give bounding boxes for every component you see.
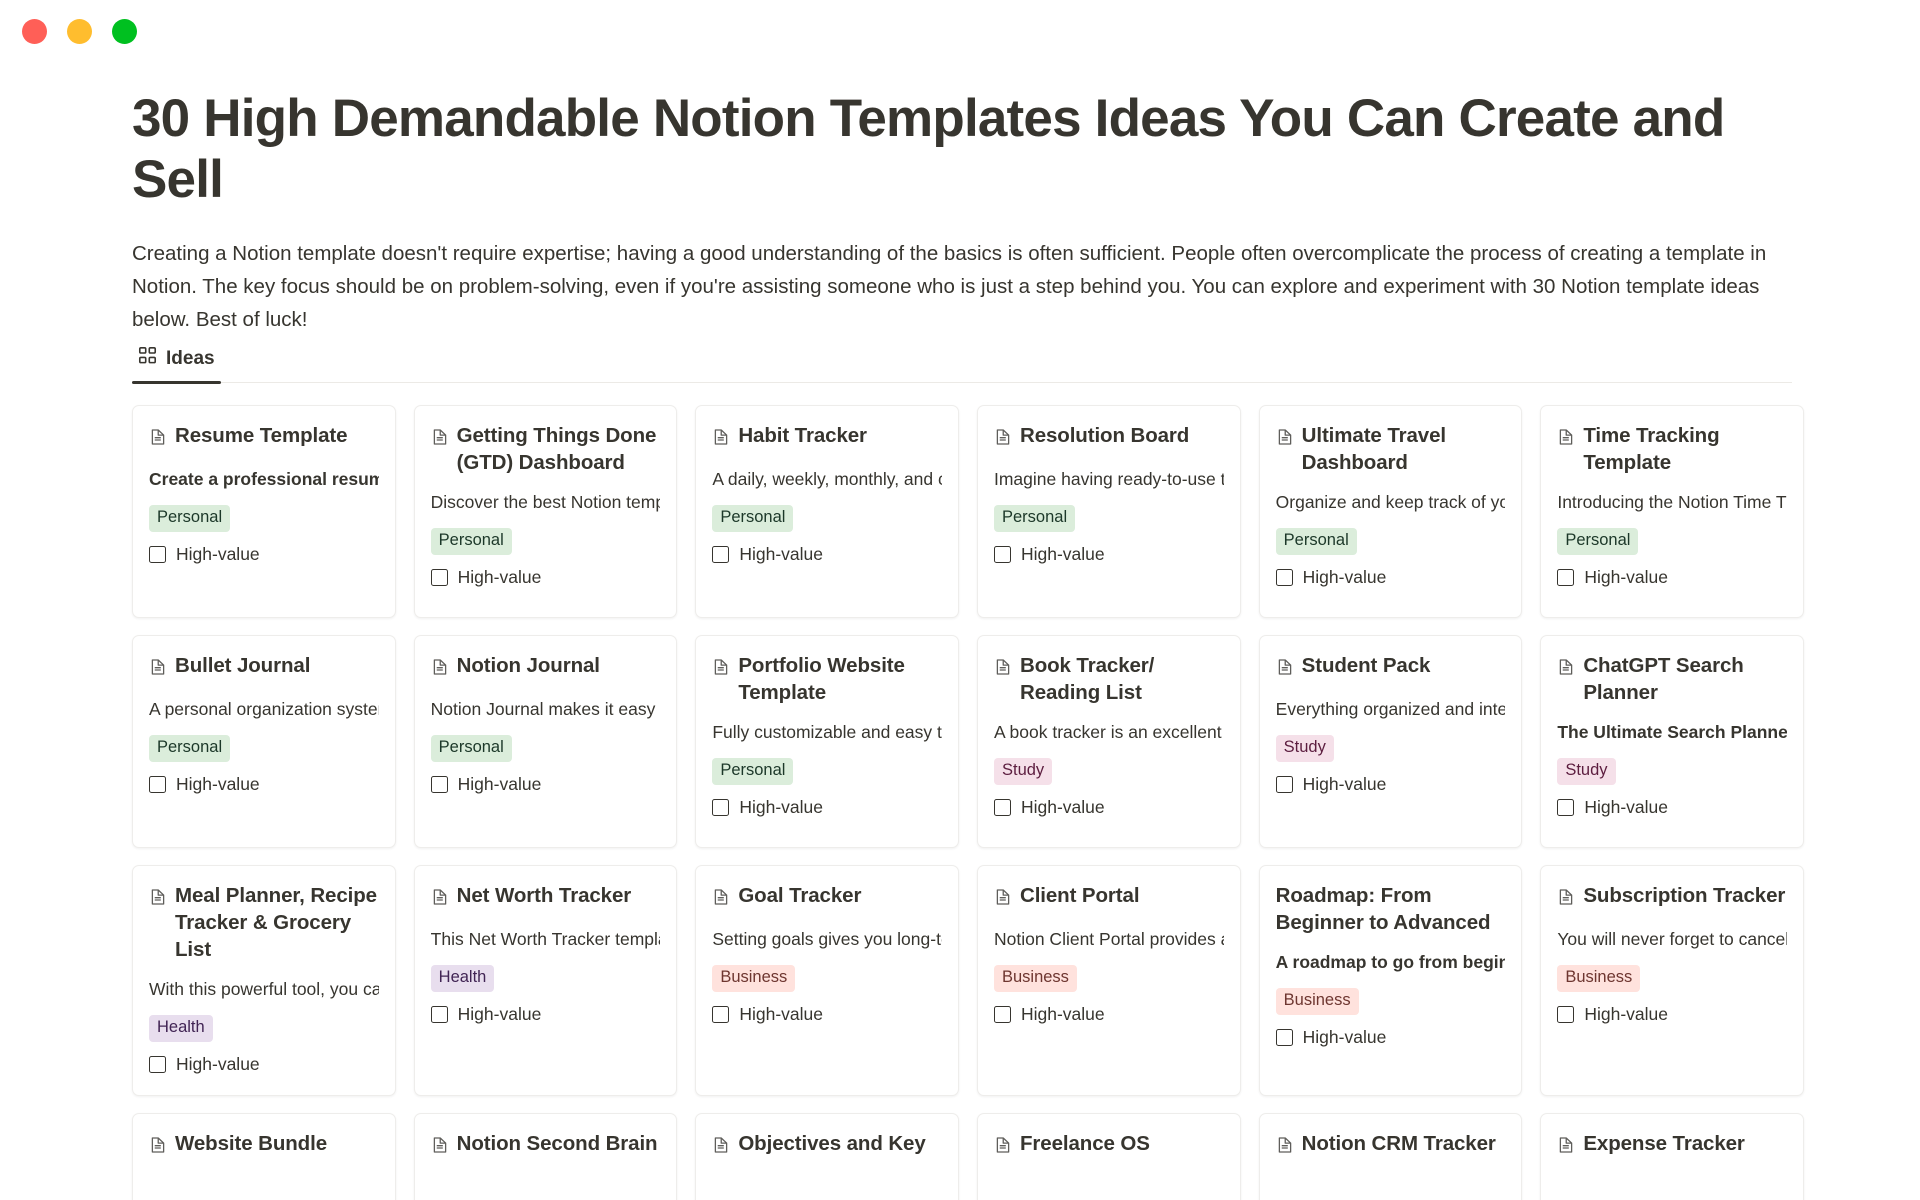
card-title-row: Website Bundle [149,1130,379,1161]
card-description: A daily, weekly, monthly, and cale [712,468,942,492]
checkbox-label: High-value [458,1004,542,1025]
card-tag-row: Personal [994,492,1224,532]
card-title: Resume Template [175,422,347,449]
checkbox-icon[interactable] [149,1056,166,1073]
idea-card[interactable]: Notion Second Brain [414,1113,678,1200]
tab-ideas[interactable]: Ideas [132,346,221,382]
card-title-row: Habit Tracker [712,422,942,453]
card-description: A personal organization system t [149,698,379,722]
idea-card[interactable]: Resolution BoardImagine having ready-to-… [977,405,1241,618]
checkbox-icon[interactable] [431,1006,448,1023]
checkbox-icon[interactable] [149,546,166,563]
card-description: Organize and keep track of your [1276,491,1506,515]
card-title: Portfolio Website Template [738,652,942,706]
card-title-row: Book Tracker/ Reading List [994,652,1224,706]
document-icon [431,426,449,453]
high-value-checkbox-row[interactable]: High-value [994,544,1224,565]
idea-card[interactable]: Notion JournalNotion Journal makes it ea… [414,635,678,848]
document-icon [712,886,730,913]
category-tag[interactable]: Personal [712,505,793,532]
card-tag-row: Health [431,952,661,992]
card-title: Goal Tracker [738,882,861,909]
checkbox-label: High-value [176,774,260,795]
document-icon [994,426,1012,453]
checkbox-label: High-value [176,1054,260,1075]
card-tag-row: Personal [712,745,942,785]
document-icon [994,1134,1012,1161]
card-title-row: Resume Template [149,422,379,453]
category-tag[interactable]: Personal [431,735,512,762]
high-value-checkbox-row[interactable]: High-value [431,774,661,795]
card-title: ChatGPT Search Planner [1583,652,1787,706]
checkbox-label: High-value [1021,544,1105,565]
gallery-view-icon [138,346,157,371]
card-title-row: Portfolio Website Template [712,652,942,706]
page-content: 30 High Demandable Notion Templates Idea… [0,62,1920,1200]
checkbox-label: High-value [176,544,260,565]
document-icon [1557,1134,1575,1161]
checkbox-label: High-value [739,544,823,565]
idea-card[interactable]: Habit TrackerA daily, weekly, monthly, a… [695,405,959,618]
category-tag[interactable]: Business [1557,965,1640,992]
high-value-checkbox-row[interactable]: High-value [149,544,379,565]
card-title-row: Net Worth Tracker [431,882,661,913]
checkbox-label: High-value [739,1004,823,1025]
window-titlebar [0,0,1920,62]
document-icon [149,1134,167,1161]
document-icon [1557,656,1575,683]
checkbox-icon[interactable] [1557,569,1574,586]
card-description: Notion Client Portal provides an [994,928,1224,952]
category-tag[interactable]: Personal [994,505,1075,532]
card-title: Meal Planner, Recipe Tracker & Grocery L… [175,882,379,963]
document-icon [431,656,449,683]
card-title: Habit Tracker [738,422,867,449]
document-icon [1276,656,1294,683]
card-tag-row: Health [149,1002,379,1042]
checkbox-label: High-value [1584,567,1668,588]
card-tag-row: Business [712,952,942,992]
document-icon [149,426,167,453]
checkbox-icon[interactable] [1276,569,1293,586]
checkbox-icon[interactable] [994,546,1011,563]
page-title: 30 High Demandable Notion Templates Idea… [132,88,1782,211]
card-title: Notion CRM Tracker [1302,1130,1496,1157]
idea-card[interactable]: Ultimate Travel DashboardOrganize and ke… [1259,405,1523,618]
card-title-row: Roadmap: From Beginner to Advanced [1276,882,1506,936]
card-tag-row: Business [1557,952,1787,992]
high-value-checkbox-row[interactable]: High-value [1276,774,1506,795]
checkbox-icon[interactable] [1276,1029,1293,1046]
document-icon [1276,1134,1294,1161]
idea-card[interactable]: Objectives and Key [695,1113,959,1200]
category-tag[interactable]: Personal [149,735,230,762]
card-title-row: Notion Journal [431,652,661,683]
ideas-card-grid: Resume TemplateCreate a professional res… [132,405,1804,1200]
document-icon [1557,426,1575,453]
card-title: Ultimate Travel Dashboard [1302,422,1506,476]
document-icon [712,426,730,453]
card-tag-row: Personal [712,492,942,532]
idea-card[interactable]: Roadmap: From Beginner to AdvancedA road… [1259,865,1523,1096]
high-value-checkbox-row[interactable]: High-value [712,1004,942,1025]
checkbox-icon[interactable] [712,799,729,816]
idea-card[interactable]: ChatGPT Search PlannerThe Ultimate Searc… [1540,635,1804,848]
card-tag-row: Business [1276,975,1506,1015]
high-value-checkbox-row[interactable]: High-value [994,797,1224,818]
tab-label: Ideas [166,348,215,370]
checkbox-icon[interactable] [149,776,166,793]
high-value-checkbox-row[interactable]: High-value [712,797,942,818]
page-description: Creating a Notion template doesn't requi… [132,238,1788,336]
card-title: Objectives and Key [738,1130,925,1157]
maximize-button[interactable] [112,19,137,44]
checkbox-label: High-value [1021,797,1105,818]
idea-card[interactable]: Website Bundle [132,1113,396,1200]
card-title-row: ChatGPT Search Planner [1557,652,1787,706]
card-tag-row: Personal [1557,515,1787,555]
checkbox-icon[interactable] [712,546,729,563]
document-icon [712,1134,730,1161]
card-tag-row: Business [994,952,1224,992]
card-title-row: Notion CRM Tracker [1276,1130,1506,1161]
card-title: Expense Tracker [1583,1130,1744,1157]
high-value-checkbox-row[interactable]: High-value [149,774,379,795]
card-description: The Ultimate Search Planner to [1557,721,1787,745]
card-title: Website Bundle [175,1130,327,1157]
idea-card[interactable]: Portfolio Website TemplateFully customiz… [695,635,959,848]
category-tag[interactable]: Business [1276,988,1359,1015]
card-title-row: Time Tracking Template [1557,422,1787,476]
category-tag[interactable]: Health [431,965,495,992]
card-description: This Net Worth Tracker template [431,928,661,952]
card-description: Setting goals gives you long-term [712,928,942,952]
idea-card[interactable]: Book Tracker/ Reading ListA book tracker… [977,635,1241,848]
card-description: Fully customizable and easy to u [712,721,942,745]
card-description: Notion Journal makes it easy to s [431,698,661,722]
idea-card[interactable]: Meal Planner, Recipe Tracker & Grocery L… [132,865,396,1096]
card-tag-row: Study [1557,745,1787,785]
idea-card[interactable]: Resume TemplateCreate a professional res… [132,405,396,618]
checkbox-label: High-value [1303,1027,1387,1048]
card-title: Notion Second Brain [457,1130,658,1157]
card-title-row: Objectives and Key [712,1130,942,1161]
idea-card[interactable]: Client PortalNotion Client Portal provid… [977,865,1241,1096]
card-tag-row: Study [1276,722,1506,762]
card-tag-row: Personal [149,722,379,762]
card-title-row: Goal Tracker [712,882,942,913]
card-title: Client Portal [1020,882,1139,909]
document-icon [431,1134,449,1161]
minimize-button[interactable] [67,19,92,44]
idea-card[interactable]: Notion CRM Tracker [1259,1113,1523,1200]
idea-card[interactable]: Student PackEverything organized and int… [1259,635,1523,848]
checkbox-icon[interactable] [994,799,1011,816]
category-tag[interactable]: Business [712,965,795,992]
view-tabs: Ideas [132,336,1792,383]
document-icon [431,886,449,913]
high-value-checkbox-row[interactable]: High-value [1276,1027,1506,1048]
card-tag-row: Personal [431,722,661,762]
checkbox-icon[interactable] [994,1006,1011,1023]
checkbox-icon[interactable] [712,1006,729,1023]
card-tag-row: Personal [431,515,661,555]
card-title-row: Student Pack [1276,652,1506,683]
high-value-checkbox-row[interactable]: High-value [1276,567,1506,588]
card-title-row: Expense Tracker [1557,1130,1787,1161]
card-description: A book tracker is an excellent wa [994,721,1224,745]
card-description: Everything organized and integra [1276,698,1506,722]
card-title: Book Tracker/ Reading List [1020,652,1224,706]
card-tag-row: Personal [149,492,379,532]
idea-card[interactable]: Goal TrackerSetting goals gives you long… [695,865,959,1096]
checkbox-icon[interactable] [431,776,448,793]
category-tag[interactable]: Business [994,965,1077,992]
checkbox-label: High-value [1021,1004,1105,1025]
card-description: Imagine having ready-to-use tem [994,468,1224,492]
card-title: Subscription Tracker [1583,882,1785,909]
high-value-checkbox-row[interactable]: High-value [712,544,942,565]
idea-card[interactable]: Getting Things Done (GTD) DashboardDisco… [414,405,678,618]
card-title: Getting Things Done (GTD) Dashboard [457,422,661,476]
card-title-row: Getting Things Done (GTD) Dashboard [431,422,661,476]
document-icon [1276,426,1294,453]
high-value-checkbox-row[interactable]: High-value [149,1054,379,1075]
document-icon [1557,886,1575,913]
checkbox-icon[interactable] [1557,1006,1574,1023]
card-title: Time Tracking Template [1583,422,1787,476]
idea-card[interactable]: Expense Tracker [1540,1113,1804,1200]
checkbox-label: High-value [1584,797,1668,818]
high-value-checkbox-row[interactable]: High-value [431,567,661,588]
checkbox-label: High-value [1584,1004,1668,1025]
checkbox-icon[interactable] [1557,799,1574,816]
category-tag[interactable]: Personal [431,528,512,555]
checkbox-label: High-value [458,567,542,588]
category-tag[interactable]: Health [149,1015,213,1042]
idea-card[interactable]: Time Tracking TemplateIntroducing the No… [1540,405,1804,618]
card-title-row: Meal Planner, Recipe Tracker & Grocery L… [149,882,379,963]
card-tag-row: Personal [1276,515,1506,555]
card-title-row: Freelance OS [994,1130,1224,1161]
checkbox-label: High-value [458,774,542,795]
document-icon [149,656,167,683]
card-description: With this powerful tool, you can [149,978,379,1002]
card-description: You will never forget to cancel or [1557,928,1787,952]
window-controls [22,19,137,44]
document-icon [149,886,167,913]
checkbox-icon[interactable] [431,569,448,586]
high-value-checkbox-row[interactable]: High-value [1557,797,1787,818]
card-title: Net Worth Tracker [457,882,632,909]
card-title-row: Client Portal [994,882,1224,913]
card-description: Discover the best Notion templa [431,491,661,515]
card-title: Bullet Journal [175,652,310,679]
card-title-row: Bullet Journal [149,652,379,683]
high-value-checkbox-row[interactable]: High-value [431,1004,661,1025]
card-description: Create a professional resume in [149,468,379,492]
checkbox-label: High-value [1303,774,1387,795]
high-value-checkbox-row[interactable]: High-value [994,1004,1224,1025]
category-tag[interactable]: Personal [712,758,793,785]
card-title: Freelance OS [1020,1130,1150,1157]
category-tag[interactable]: Personal [149,505,230,532]
card-tag-row: Study [994,745,1224,785]
checkbox-icon[interactable] [1276,776,1293,793]
card-description: A roadmap to go from beginner [1276,951,1506,975]
document-icon [712,656,730,683]
card-title-row: Notion Second Brain [431,1130,661,1161]
high-value-checkbox-row[interactable]: High-value [1557,1004,1787,1025]
close-button[interactable] [22,19,47,44]
card-description: Introducing the Notion Time Trac [1557,491,1787,515]
idea-card[interactable]: Freelance OS [977,1113,1241,1200]
card-title-row: Subscription Tracker [1557,882,1787,913]
card-title-row: Ultimate Travel Dashboard [1276,422,1506,476]
idea-card[interactable]: Subscription TrackerYou will never forge… [1540,865,1804,1096]
card-title: Student Pack [1302,652,1431,679]
card-title: Notion Journal [457,652,600,679]
category-tag[interactable]: Personal [1276,528,1357,555]
high-value-checkbox-row[interactable]: High-value [1557,567,1787,588]
category-tag[interactable]: Personal [1557,528,1638,555]
document-icon [994,656,1012,683]
idea-card[interactable]: Net Worth TrackerThis Net Worth Tracker … [414,865,678,1096]
card-title-row: Resolution Board [994,422,1224,453]
idea-card[interactable]: Bullet JournalA personal organization sy… [132,635,396,848]
category-tag[interactable]: Study [1276,735,1334,762]
document-icon [994,886,1012,913]
category-tag[interactable]: Study [1557,758,1615,785]
checkbox-label: High-value [739,797,823,818]
category-tag[interactable]: Study [994,758,1052,785]
card-title: Roadmap: From Beginner to Advanced [1276,882,1506,936]
card-title: Resolution Board [1020,422,1189,449]
checkbox-label: High-value [1303,567,1387,588]
